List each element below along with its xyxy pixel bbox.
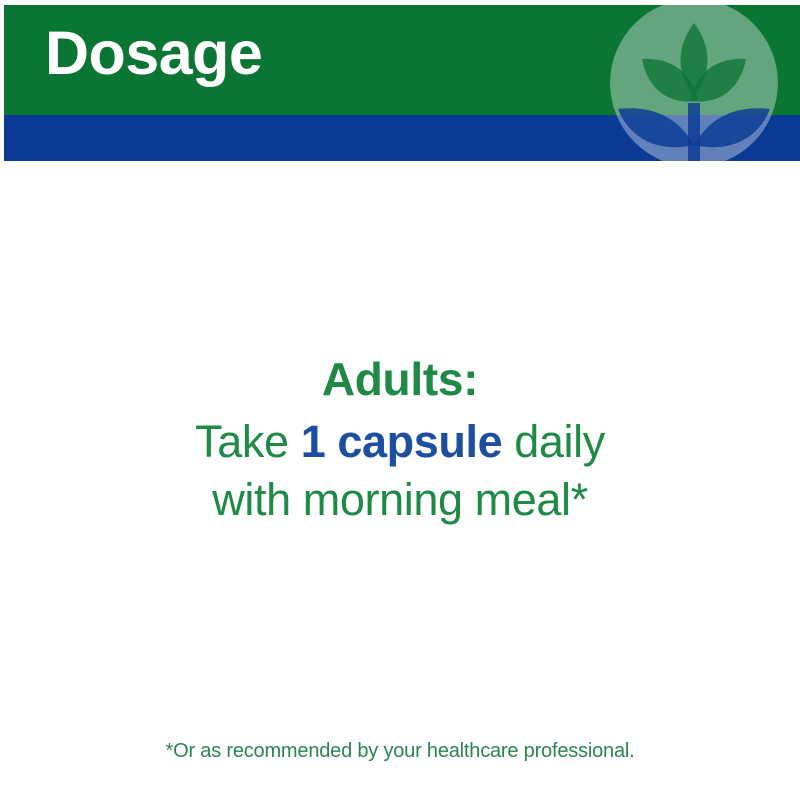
dosage-instructions: Adults: Take 1 capsule daily with mornin… xyxy=(0,352,800,528)
header-banner: Dosage xyxy=(4,5,800,161)
dosage-panel: Dosage Adults: Take 1 capsule daily with… xyxy=(0,0,800,800)
dosage-line-1-suffix: daily xyxy=(502,416,605,467)
dosage-footnote: *Or as recommended by your healthcare pr… xyxy=(0,738,800,764)
header-blue-band xyxy=(4,115,800,161)
dosage-amount-emphasis: 1 capsule xyxy=(301,416,503,467)
dosage-audience-heading: Adults: xyxy=(0,352,800,406)
dosage-directions: Take 1 capsule daily with morning meal* xyxy=(0,413,800,528)
dosage-line-2: with morning meal* xyxy=(0,471,800,529)
dosage-line-1-prefix: Take xyxy=(195,416,301,467)
page-title: Dosage xyxy=(45,23,262,84)
dosage-line-1: Take 1 capsule daily xyxy=(0,413,800,471)
